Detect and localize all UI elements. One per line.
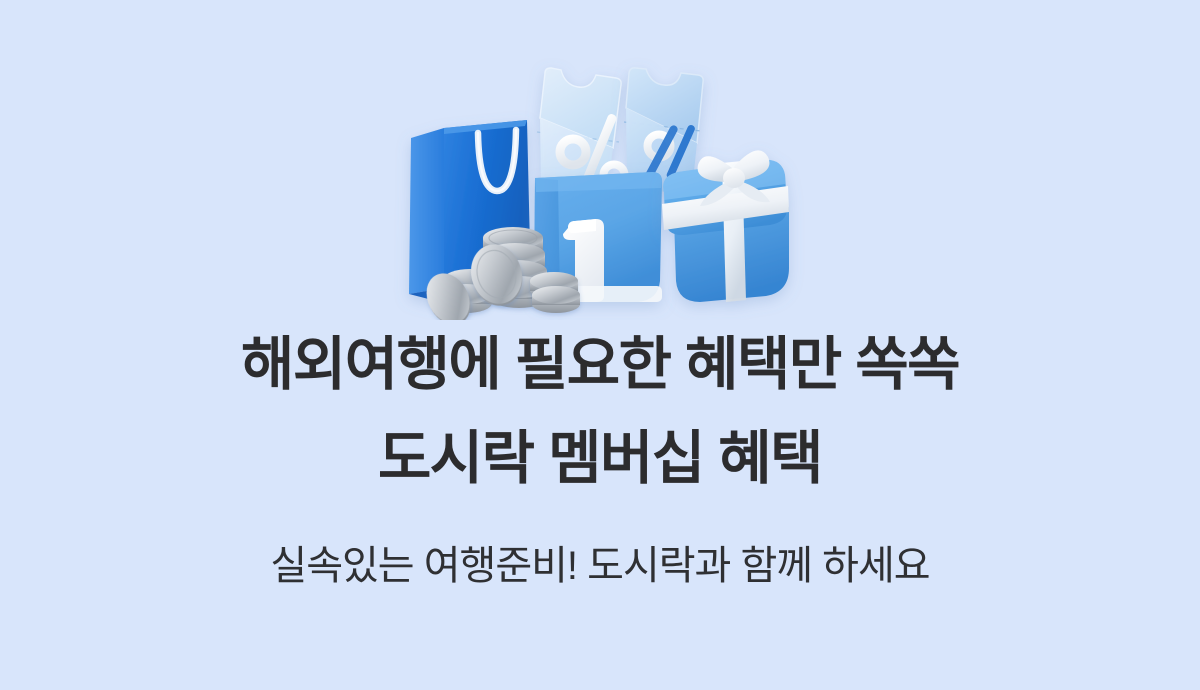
gift-bow-shape <box>698 150 770 206</box>
percent-symbol-group <box>560 113 696 186</box>
diagonal-slash-shape <box>641 124 679 186</box>
promotional-banner: 해외여행에 필요한 혜택만 쏙쏙 도시락 멤버십 혜택 실속있는 여행준비! 도… <box>0 0 1200 690</box>
gift-box-group <box>662 150 789 302</box>
headline-line-1: 해외여행에 필요한 혜택만 쏙쏙 <box>0 336 1200 394</box>
hero-illustration <box>0 0 1200 320</box>
coupon-ticket-right-group <box>624 68 703 195</box>
numeral-one-shape <box>563 219 604 302</box>
coupon-ticket-left-group <box>537 68 621 197</box>
coin-stack-group <box>418 227 580 320</box>
front-pouch-group <box>534 172 662 302</box>
headline-line-2: 도시락 멤버십 혜택 <box>0 430 1200 488</box>
banner-subtitle: 실속있는 여행준비! 도시락과 함께 하세요 <box>0 546 1200 586</box>
banner-text-block: 해외여행에 필요한 혜택만 쏙쏙 도시락 멤버십 혜택 실속있는 여행준비! 도… <box>0 322 1200 586</box>
shopping-bag-group <box>409 120 531 303</box>
